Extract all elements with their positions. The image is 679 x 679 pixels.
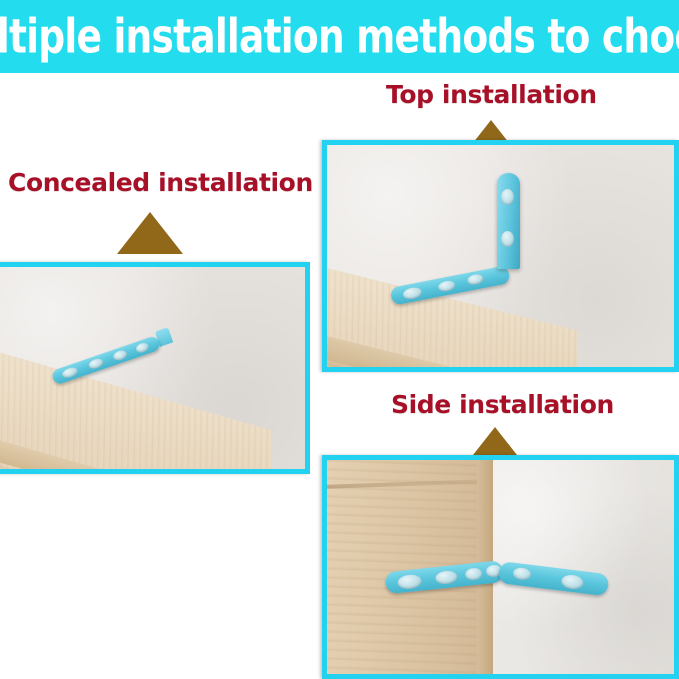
strap-screw-cap [561, 574, 585, 591]
label-side-installation: Side installation [391, 390, 614, 419]
strap-screw-cap [437, 280, 456, 293]
strap-screw-cap [467, 273, 485, 286]
strap-screw-cap [402, 286, 423, 300]
strap-screw-cap [135, 341, 150, 354]
safety-strap-vertical-arm [497, 173, 520, 269]
strap-screw-cap [512, 567, 531, 581]
label-concealed-installation: Concealed installation [8, 168, 313, 197]
photo-panel-top-installation [322, 140, 679, 372]
label-top-installation: Top installation [386, 80, 597, 109]
strap-screw-cap [435, 570, 458, 585]
photo-panel-side-installation [322, 455, 679, 679]
strap-screw-cap [112, 349, 128, 362]
photo-concealed-scene [0, 267, 305, 469]
triangle-pointer-icon-concealed [117, 212, 183, 254]
page-title: Multiple installation methods to choose [0, 13, 679, 60]
photo-side-scene [327, 460, 674, 674]
strap-screw-cap [465, 567, 483, 581]
strap-screw-cap [501, 189, 514, 205]
photo-top-scene [327, 145, 674, 367]
strap-screw-cap [61, 366, 79, 380]
strap-screw-cap [397, 574, 422, 590]
photo-panel-concealed-installation [0, 262, 310, 474]
header-banner: Multiple installation methods to choose [0, 0, 679, 73]
strap-screw-cap [87, 357, 104, 370]
strap-screw-cap [501, 231, 514, 247]
